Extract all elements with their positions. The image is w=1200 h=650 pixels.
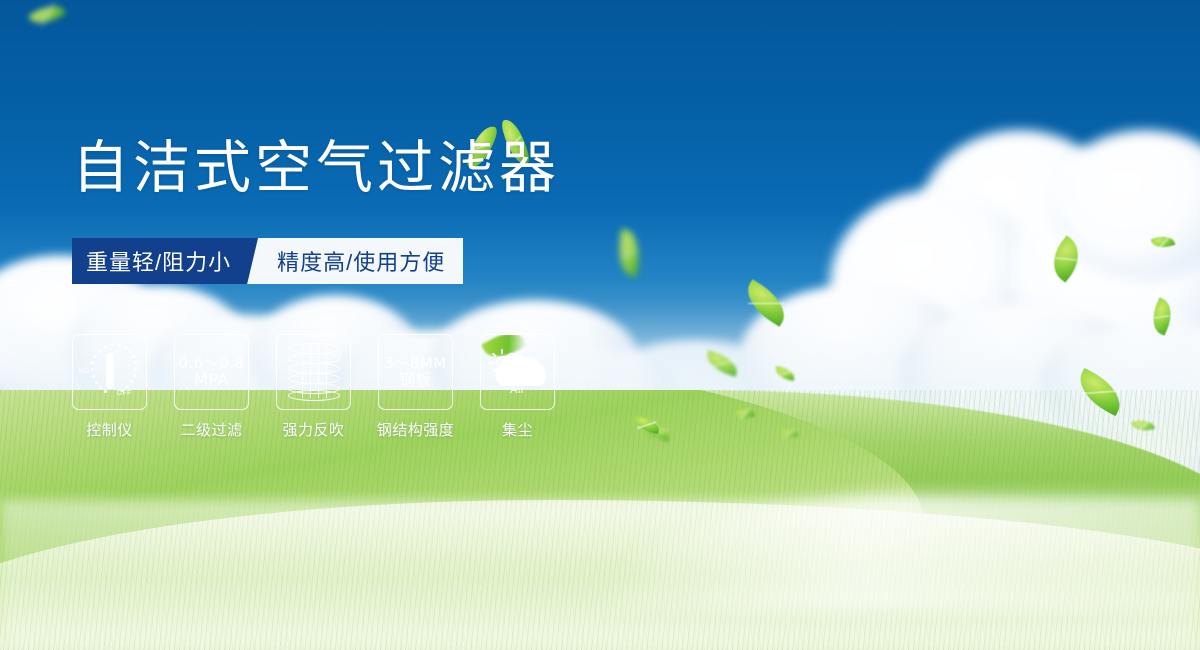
feature-label: 控制仪: [86, 419, 133, 440]
steel-thickness: 3～8MM: [384, 354, 446, 372]
subtitle-primary: 重量轻/阻力小: [72, 238, 247, 284]
gauge-needle: [106, 353, 114, 389]
field-highlight: [0, 500, 1200, 650]
steel-plate-icon: 3～8MM 钢板: [384, 355, 446, 390]
air-label: Air: [488, 384, 548, 396]
feature-icon-box: 3～8MM 钢板: [378, 334, 453, 410]
feature-label: 集尘: [502, 419, 533, 440]
subtitle-divider: [247, 238, 273, 284]
coil-icon: [288, 343, 340, 401]
pressure-value: 0.6～0.8: [178, 354, 244, 372]
feature-icon-box: 0.6～0.8 MPA: [174, 334, 249, 410]
product-banner: 自洁式空气过滤器 重量轻/阻力小 精度高/使用方便: [0, 0, 1200, 650]
feature-label: 二级过滤: [180, 419, 242, 440]
feature-item-backblow[interactable]: 强力反吹: [276, 334, 351, 440]
feature-item-control[interactable]: NO OFF 控制仪: [72, 334, 147, 440]
feature-label: 强力反吹: [282, 419, 344, 440]
steel-material: 钢板: [384, 371, 446, 389]
subtitle-secondary: 精度高/使用方便: [273, 238, 463, 284]
cloud-puff: [519, 357, 541, 379]
air-cloud-icon: Air: [488, 344, 548, 400]
feature-icon-box: [276, 334, 351, 410]
feature-item-steel[interactable]: 3～8MM 钢板 钢结构强度: [378, 334, 453, 440]
feature-icon-box: NO OFF: [72, 334, 147, 410]
feature-item-pressure[interactable]: 0.6～0.8 MPA 二级过滤: [174, 334, 249, 440]
gauge-no-label: NO: [79, 368, 90, 375]
gauge-off-label: OFF: [117, 390, 132, 397]
gauge-icon: NO OFF: [79, 342, 141, 402]
feature-list: NO OFF 控制仪 0.6～0.8 MPA 二级过滤: [72, 334, 555, 440]
feature-item-dust[interactable]: Air 集尘: [480, 334, 555, 440]
pressure-icon: 0.6～0.8 MPA: [178, 355, 244, 390]
pressure-unit: MPA: [178, 371, 244, 389]
page-title: 自洁式空气过滤器: [72, 140, 560, 197]
feature-label: 钢结构强度: [377, 419, 455, 440]
feature-icon-box: Air: [480, 334, 555, 410]
subtitle-bar: 重量轻/阻力小 精度高/使用方便: [72, 238, 463, 284]
